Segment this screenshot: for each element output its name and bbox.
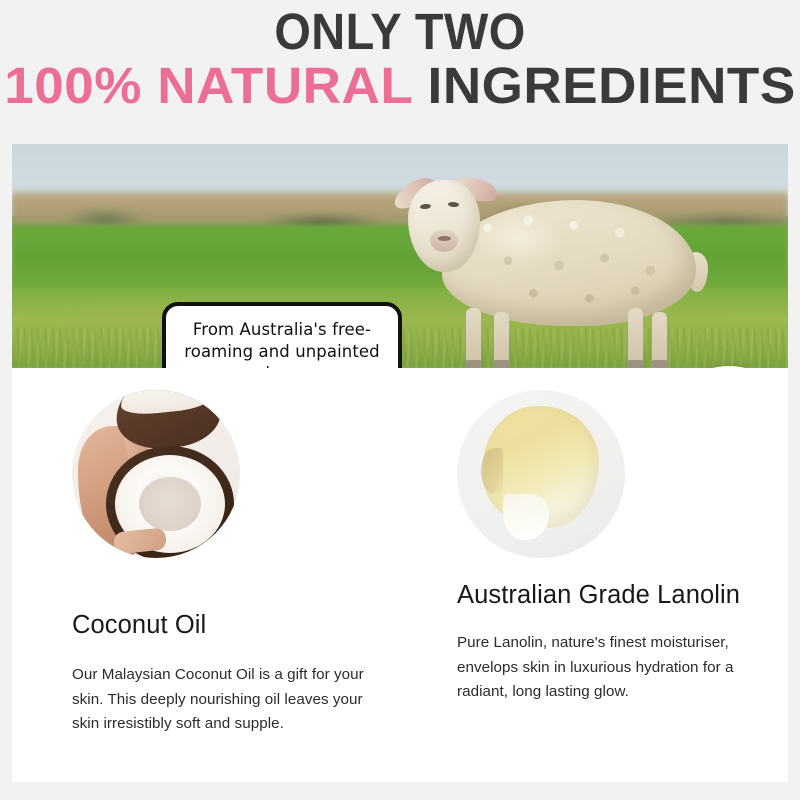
sheep-wool-texture	[442, 200, 696, 326]
heading-rest: INGREDIENTS	[412, 57, 795, 114]
ingredient-body-lanolin: Pure Lanolin, nature's finest moisturise…	[457, 631, 757, 705]
cruelty-free-badge: Cruelty Free	[662, 366, 788, 368]
coconut-cavity	[139, 477, 201, 531]
ingredient-column-coconut: Coconut Oil Our Malaysian Coconut Oil is…	[72, 368, 402, 737]
heading-highlight: 100% NATURAL	[4, 57, 412, 114]
sheep-nostril	[438, 236, 451, 241]
sheep-hoof	[627, 360, 644, 368]
infographic-page: ONLY TWO 100% NATURAL INGREDIENTS	[0, 0, 800, 800]
lanolin-drip	[503, 494, 549, 540]
ingredient-title-lanolin: Australian Grade Lanolin	[457, 580, 787, 611]
cruelty-free-badge-art: Cruelty Free	[662, 366, 788, 368]
sheep-leg	[628, 308, 643, 366]
hero-banner: From Australia's free-roaming and unpain…	[12, 144, 788, 368]
heading-line-1: ONLY TWO	[32, 6, 768, 58]
sheep-leg	[652, 312, 667, 366]
ingredient-column-lanolin: Australian Grade Lanolin Pure Lanolin, n…	[457, 368, 787, 705]
speech-bubble: From Australia's free-roaming and unpain…	[162, 302, 402, 368]
page-title: ONLY TWO 100% NATURAL INGREDIENTS	[0, 6, 800, 112]
ingredient-title-coconut: Coconut Oil	[72, 610, 402, 641]
speech-bubble-text: From Australia's free-roaming and unpain…	[166, 319, 398, 368]
coconut-image	[72, 390, 240, 558]
coconut-flesh-top	[119, 390, 212, 417]
sheep-head	[408, 180, 480, 272]
sheep-body	[442, 200, 696, 326]
ingredients-card: Coconut Oil Our Malaysian Coconut Oil is…	[12, 368, 788, 782]
ingredient-body-coconut: Our Malaysian Coconut Oil is a gift for …	[72, 663, 372, 737]
heading-line-2: 100% NATURAL INGREDIENTS	[0, 60, 800, 112]
lanolin-image	[457, 390, 625, 558]
sheep-leg	[494, 312, 509, 366]
sheep-leg	[466, 308, 481, 366]
sheep-hoof	[493, 360, 510, 368]
sheep-illustration	[390, 156, 720, 368]
cruelty-free-badge-label: Cruelty Free	[667, 366, 780, 368]
sheep-hoof	[465, 360, 482, 368]
lanolin-edge-shadow	[481, 448, 503, 494]
